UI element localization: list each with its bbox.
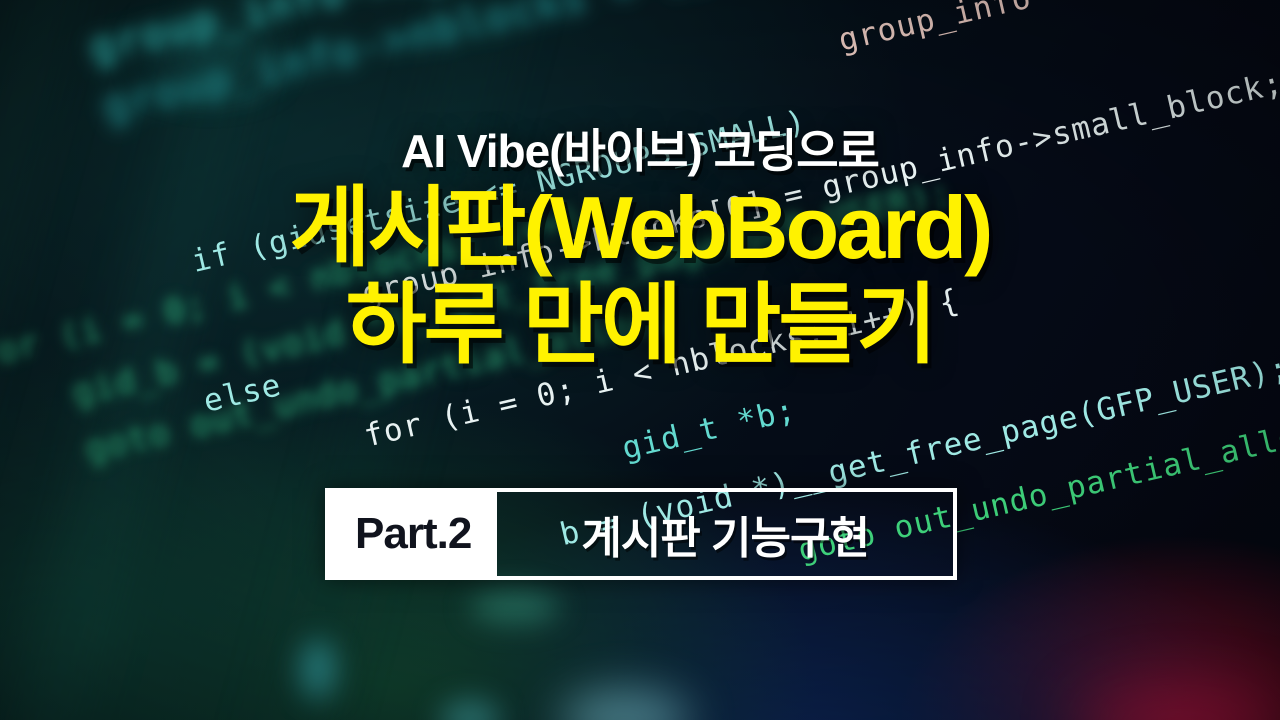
badge-topic-label: 게시판 기능구현 — [497, 492, 953, 576]
part-badge: Part.2 게시판 기능구현 — [325, 488, 957, 580]
badge-part-label: Part.2 — [329, 492, 497, 576]
bokeh-light-4 — [470, 590, 560, 624]
background-blur-streaks — [0, 0, 1280, 720]
youtube-thumbnail-canvas: if (!group_info) return NULL; group_info… — [0, 0, 1280, 720]
bokeh-light-1 — [300, 640, 336, 700]
bokeh-light-6 — [150, 30, 270, 80]
